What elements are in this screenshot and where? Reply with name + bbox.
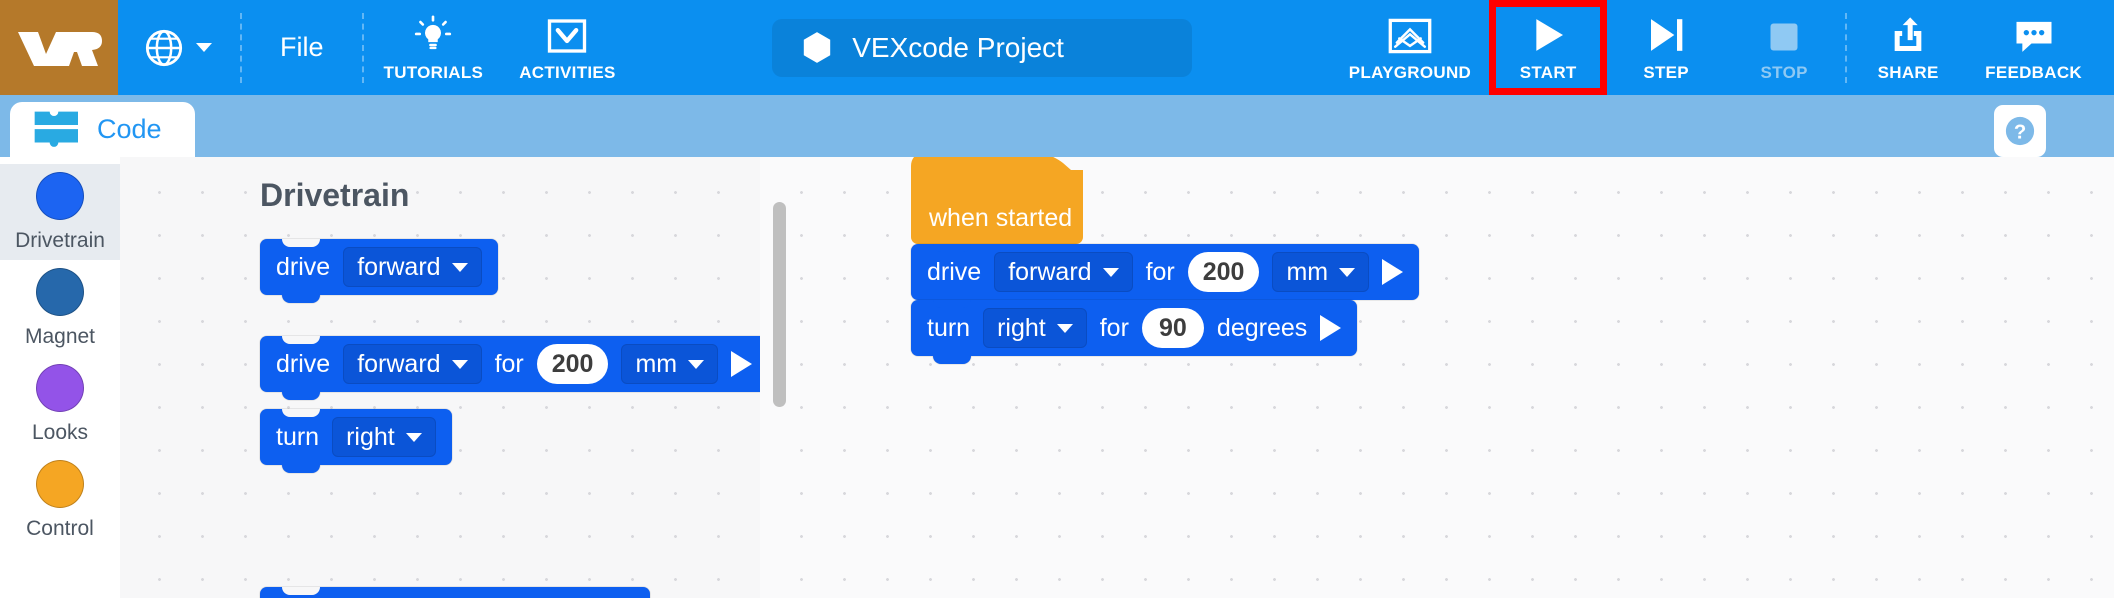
category-sidebar: Drivetrain Magnet Looks Control bbox=[0, 157, 120, 598]
question-mark-icon: ? bbox=[2002, 113, 2038, 149]
feedback-label: FEEDBACK bbox=[1985, 63, 2082, 83]
category-color-dot bbox=[36, 460, 84, 508]
tab-code[interactable]: Code bbox=[10, 102, 195, 157]
block-word: turn bbox=[927, 314, 970, 343]
help-button[interactable]: ? bbox=[1994, 105, 2046, 157]
share-label: SHARE bbox=[1878, 63, 1939, 83]
dropdown-value: forward bbox=[357, 350, 440, 379]
toolbar-divider bbox=[1845, 13, 1847, 83]
start-label: START bbox=[1520, 63, 1577, 83]
block-word: drive bbox=[276, 350, 330, 379]
category-color-dot bbox=[36, 364, 84, 412]
unit-dropdown[interactable]: mm bbox=[1272, 252, 1369, 292]
comment-dots-icon bbox=[2012, 12, 2056, 56]
category-looks[interactable]: Looks bbox=[0, 356, 120, 452]
project-name-field[interactable]: VEXcode Project bbox=[772, 19, 1192, 77]
palette-block-partial[interactable] bbox=[260, 587, 650, 598]
lightbulb-icon bbox=[412, 12, 454, 56]
unit-dropdown[interactable]: mm bbox=[621, 344, 718, 384]
globe-icon bbox=[144, 28, 184, 68]
category-label: Drivetrain bbox=[15, 229, 105, 253]
block-word: for bbox=[1146, 258, 1175, 287]
palette-block-drive-distance[interactable]: drive forward for 200 mm bbox=[260, 336, 760, 392]
direction-dropdown[interactable]: forward bbox=[343, 344, 481, 384]
file-menu-button[interactable]: File bbox=[244, 0, 360, 95]
hat-cap-shape bbox=[911, 157, 1083, 174]
project-name-text: VEXcode Project bbox=[852, 32, 1064, 64]
direction-dropdown[interactable]: forward bbox=[994, 252, 1132, 292]
category-color-dot bbox=[36, 172, 84, 220]
vr-logo bbox=[0, 0, 118, 95]
dropdown-value: mm bbox=[1286, 258, 1328, 287]
chevron-down-icon bbox=[1103, 268, 1119, 277]
block-word: degrees bbox=[1217, 314, 1307, 343]
stop-label: STOP bbox=[1761, 63, 1808, 83]
category-drivetrain[interactable]: Drivetrain bbox=[0, 164, 120, 260]
run-block-icon[interactable] bbox=[1382, 259, 1403, 285]
dropdown-value: forward bbox=[1008, 258, 1091, 287]
category-control[interactable]: Control bbox=[0, 452, 120, 548]
playground-button[interactable]: PLAYGROUND bbox=[1331, 0, 1489, 95]
project-name-container: VEXcode Project bbox=[634, 0, 1331, 95]
blocks-icon bbox=[32, 110, 84, 150]
toolbar-divider bbox=[362, 13, 364, 83]
playground-label: PLAYGROUND bbox=[1349, 63, 1471, 83]
activities-button[interactable]: ACTIVITIES bbox=[501, 0, 634, 95]
palette-block-drive-direction[interactable]: drive forward bbox=[260, 239, 498, 295]
toolbar-divider bbox=[240, 13, 242, 83]
editor-body: Drivetrain Magnet Looks Control Drivetra… bbox=[0, 157, 2114, 598]
run-block-icon[interactable] bbox=[731, 351, 752, 377]
dropdown-value: right bbox=[346, 423, 395, 452]
code-workspace[interactable]: when started drive forward for 200 mm tu… bbox=[760, 157, 2114, 598]
chevron-down-icon bbox=[196, 43, 212, 52]
degrees-number-input[interactable]: 90 bbox=[1142, 308, 1204, 348]
palette-block-turn-direction[interactable]: turn right bbox=[260, 409, 452, 465]
category-label: Magnet bbox=[25, 325, 95, 349]
direction-dropdown[interactable]: right bbox=[332, 417, 436, 457]
workspace-scrollbar[interactable] bbox=[773, 202, 786, 407]
step-forward-icon bbox=[1646, 12, 1686, 56]
step-label: STEP bbox=[1643, 63, 1689, 83]
tab-code-label: Code bbox=[97, 114, 162, 145]
toolbar-actions: PLAYGROUND START STEP bbox=[1331, 0, 2114, 95]
step-button[interactable]: STEP bbox=[1607, 0, 1725, 95]
block-word: turn bbox=[276, 423, 319, 452]
activities-icon bbox=[545, 12, 589, 56]
category-magnet[interactable]: Magnet bbox=[0, 260, 120, 356]
chevron-down-icon bbox=[452, 263, 468, 272]
block-word: for bbox=[1100, 314, 1129, 343]
top-toolbar: File TUTORIALS bbox=[0, 0, 2114, 95]
stop-button[interactable]: STOP bbox=[1725, 0, 1843, 95]
svg-text:?: ? bbox=[2014, 122, 2026, 144]
direction-dropdown[interactable]: right bbox=[983, 308, 1087, 348]
stop-square-icon bbox=[1766, 12, 1802, 56]
workspace-block-when-started[interactable]: when started bbox=[911, 170, 1083, 244]
distance-number-input[interactable]: 200 bbox=[537, 344, 609, 384]
chevron-down-icon bbox=[452, 360, 468, 369]
playground-icon bbox=[1387, 12, 1433, 56]
category-label: Looks bbox=[32, 421, 88, 445]
tab-strip: Code ? bbox=[0, 95, 2114, 157]
tutorials-button[interactable]: TUTORIALS bbox=[366, 0, 502, 95]
distance-number-input[interactable]: 200 bbox=[1188, 252, 1260, 292]
file-menu-label: File bbox=[280, 32, 324, 63]
vr-logo-icon bbox=[16, 28, 102, 68]
share-icon bbox=[1888, 12, 1928, 56]
direction-dropdown[interactable]: forward bbox=[343, 247, 481, 287]
dropdown-value: right bbox=[997, 314, 1046, 343]
chevron-down-icon bbox=[1339, 268, 1355, 277]
tutorials-label: TUTORIALS bbox=[384, 63, 484, 83]
workspace-block-drive-distance[interactable]: drive forward for 200 mm bbox=[911, 244, 1419, 300]
dropdown-value: forward bbox=[357, 253, 440, 282]
chevron-down-icon bbox=[1057, 324, 1073, 333]
start-button[interactable]: START bbox=[1489, 0, 1607, 95]
run-block-icon[interactable] bbox=[1320, 315, 1341, 341]
chevron-down-icon bbox=[406, 433, 422, 442]
hat-label: when started bbox=[929, 204, 1072, 233]
chevron-down-icon bbox=[688, 360, 704, 369]
feedback-button[interactable]: FEEDBACK bbox=[1967, 0, 2100, 95]
dropdown-value: mm bbox=[635, 350, 677, 379]
category-label: Control bbox=[26, 517, 94, 541]
share-button[interactable]: SHARE bbox=[1849, 0, 1967, 95]
block-palette[interactable]: Drivetrain drive forward drive forward f… bbox=[120, 157, 760, 598]
activities-label: ACTIVITIES bbox=[519, 63, 616, 83]
workspace-block-turn-degrees[interactable]: turn right for 90 degrees bbox=[911, 300, 1357, 356]
block-word: drive bbox=[276, 253, 330, 282]
hexagon-icon bbox=[802, 31, 832, 64]
play-icon bbox=[1528, 12, 1568, 56]
block-word: drive bbox=[927, 258, 981, 287]
language-selector[interactable] bbox=[118, 0, 238, 95]
palette-title: Drivetrain bbox=[260, 177, 409, 214]
block-word: for bbox=[495, 350, 524, 379]
category-color-dot bbox=[36, 268, 84, 316]
